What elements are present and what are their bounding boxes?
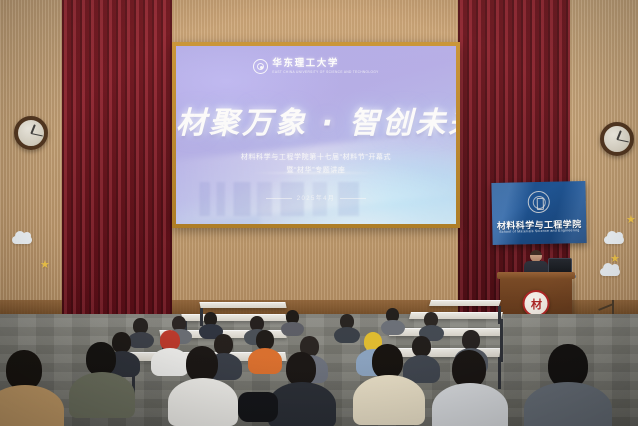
backpack: [238, 392, 278, 422]
person-head: [112, 332, 131, 353]
person-torso: [334, 327, 360, 343]
person-head: [286, 352, 316, 386]
person-torso: [248, 348, 282, 374]
star-decoration-icon: ★: [40, 258, 50, 271]
person-head: [412, 336, 431, 357]
department-banner: 材料科学与工程学院 School of Materials Science an…: [491, 181, 586, 245]
desk-row: [199, 302, 286, 308]
university-logo: 华东理工大学 EAST CHINA UNIVERSITY OF SCIENCE …: [176, 59, 456, 74]
lecture-hall-scene: ★ ★ ★ 华东理工大学 EAST CHINA UNIVERSITY OF SC…: [0, 0, 638, 426]
presentation-slide: 华东理工大学 EAST CHINA UNIVERSITY OF SCIENCE …: [176, 46, 456, 224]
person-head: [6, 350, 42, 390]
projection-screen-frame: 华东理工大学 EAST CHINA UNIVERSITY OF SCIENCE …: [172, 42, 460, 228]
podium-top-edge: [497, 272, 575, 279]
person-torso: [432, 383, 508, 426]
person-torso: [381, 320, 405, 335]
desk-row: [429, 300, 501, 306]
cloud-decoration-icon: [600, 268, 620, 276]
person-torso: [353, 375, 425, 425]
person-torso: [69, 372, 135, 418]
wall-clock-left-icon: [14, 116, 48, 150]
slide-subtitle-line-2: 暨“材华”专题讲座: [176, 165, 456, 175]
person-head: [462, 330, 480, 350]
person-head: [256, 330, 274, 350]
person-torso: [268, 382, 336, 426]
banner-emblem-icon: [528, 191, 550, 213]
university-name-en: EAST CHINA UNIVERSITY OF SCIENCE AND TEC…: [272, 71, 378, 74]
wall-clock-right-icon: [600, 122, 634, 156]
cloud-decoration-icon: [604, 236, 624, 244]
red-cap-icon: [160, 330, 180, 350]
person-head: [214, 334, 233, 355]
left-wall-panel: [0, 0, 70, 330]
slide-subtitle-line-1: 材料科学与工程学院第十七届“材料节”开幕式: [176, 152, 456, 162]
star-decoration-icon: ★: [626, 213, 636, 226]
person-head: [186, 346, 218, 382]
university-name-cn: 华东理工大学: [272, 59, 378, 69]
cloud-decoration-icon: [12, 236, 32, 244]
desk-row: [389, 328, 503, 336]
desk-leg: [498, 357, 501, 389]
person-torso: [281, 322, 304, 336]
person-head: [372, 344, 403, 379]
desk-row: [181, 314, 286, 321]
university-emblem-icon: [253, 59, 268, 74]
slide-date: 2025年4月: [176, 193, 456, 202]
person-torso: [151, 348, 189, 376]
person-torso: [128, 332, 154, 348]
stage-curtain-left: [62, 0, 172, 330]
slide-main-title: 材聚万象 · 智创未来: [176, 98, 456, 142]
banner-title-en: School of Materials Science and Engineer…: [492, 228, 586, 234]
right-wall-panel: [566, 0, 638, 330]
desk-leg: [200, 308, 203, 326]
podium-seal-text: 材: [525, 292, 548, 315]
podium-seal-emblem: 材: [523, 290, 550, 317]
person-head: [86, 342, 116, 376]
person-torso: [168, 378, 238, 426]
